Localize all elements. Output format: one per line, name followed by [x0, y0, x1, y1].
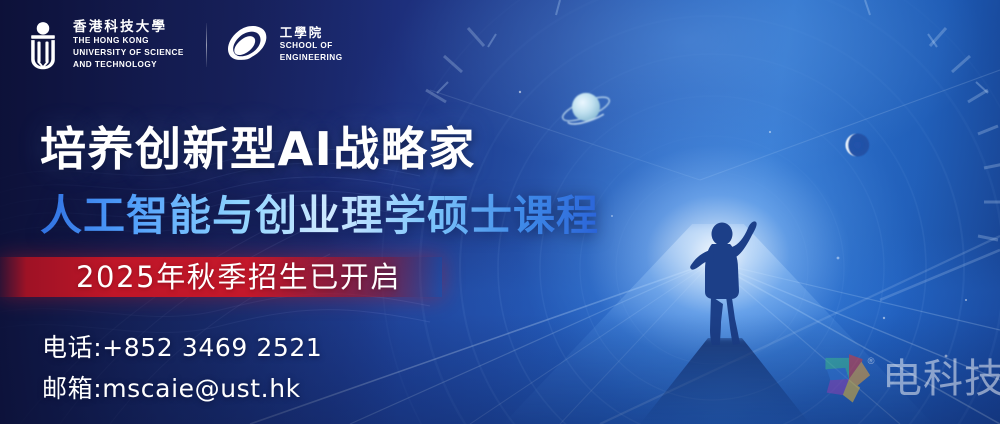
school-of-engineering-logo-block[interactable]: 工學院 SCHOOL OF ENGINEERING	[226, 25, 343, 65]
soe-swoosh-icon	[226, 25, 272, 65]
hkust-logo-block[interactable]: 香港科技大學 THE HONG KONG UNIVERSITY OF SCIEN…	[22, 20, 184, 71]
hkust-name-en-line2: UNIVERSITY OF SCIENCE	[73, 48, 184, 59]
vertical-divider	[206, 23, 207, 67]
contact-phone: 电话:+852 3469 2521	[42, 327, 322, 368]
promotional-banner: 香港科技大學 THE HONG KONG UNIVERSITY OF SCIEN…	[0, 0, 1000, 424]
header-logos: 香港科技大學 THE HONG KONG UNIVERSITY OF SCIEN…	[22, 14, 343, 76]
watermark-text: 电科技	[882, 359, 1000, 399]
watermark: ® 电科技	[818, 348, 1000, 410]
soe-name-en-line1: SCHOOL OF	[280, 41, 343, 52]
program-subtitle: 人工智能与创业理学硕士课程	[40, 182, 599, 243]
contact-email: 邮箱:mscaie@ust.hk	[42, 368, 322, 409]
pinwheel-logo-icon: ®	[818, 348, 880, 410]
crescent-moon-icon	[840, 128, 874, 162]
hkust-name-cn: 香港科技大學	[73, 20, 184, 36]
registered-symbol: ®	[868, 356, 875, 366]
soe-logo-text: 工學院 SCHOOL OF ENGINEERING	[280, 26, 343, 64]
page-title: 培养创新型AI战略家	[40, 113, 476, 179]
hkust-shield-icon	[22, 20, 64, 70]
contact-info: 电话:+852 3469 2521 邮箱:mscaie@ust.hk	[42, 327, 322, 409]
admission-banner-text: 2025年秋季招生已开启	[76, 260, 401, 294]
hkust-name-en-line1: THE HONG KONG	[73, 36, 184, 47]
person-silhouette-raised-arm	[676, 218, 768, 350]
hkust-logo-text: 香港科技大學 THE HONG KONG UNIVERSITY OF SCIEN…	[73, 20, 184, 71]
saturn-planet-icon	[560, 82, 612, 134]
soe-name-cn: 工學院	[280, 26, 343, 40]
hkust-name-en-line3: AND TECHNOLOGY	[73, 60, 184, 71]
soe-name-en-line2: ENGINEERING	[280, 53, 343, 64]
